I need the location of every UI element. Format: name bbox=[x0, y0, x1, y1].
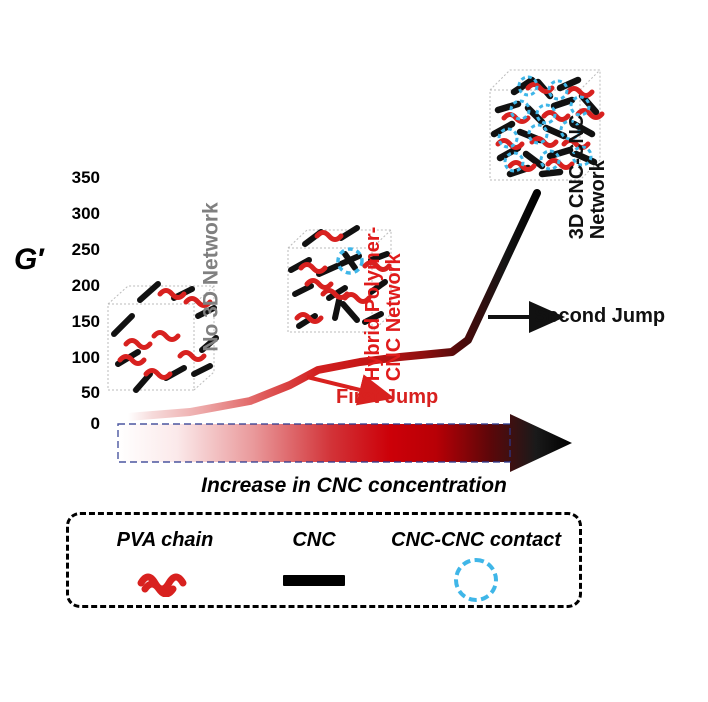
region-label-3d-cnc-cnc-network: 3D CNC-CNC Network bbox=[567, 115, 608, 239]
dashed-circle-icon bbox=[381, 560, 571, 600]
first-jump-label: First Jump bbox=[336, 386, 438, 409]
region-label-no-3d-network: No 3D Network bbox=[200, 202, 222, 351]
figure-canvas: G′ 350 300 250 200 150 100 50 0 bbox=[0, 0, 708, 702]
legend: PVA chain CNC CNC-CNC contact bbox=[66, 512, 582, 608]
second-jump-label: Second Jump bbox=[534, 305, 665, 328]
legend-item-cnc: CNC bbox=[249, 529, 379, 600]
legend-item-cnc-cnc-contact: CNC-CNC contact bbox=[381, 529, 571, 600]
concentration-arrow bbox=[110, 414, 580, 477]
region-label-hybrid-polymer-cnc-network: Hybrid Polymer- CNC Network bbox=[363, 227, 404, 381]
region-label-3d-line-2: Network bbox=[587, 115, 608, 239]
legend-item-pva-chain: PVA chain bbox=[85, 529, 245, 600]
x-axis-caption: Increase in CNC concentration bbox=[0, 474, 708, 498]
region-label-hybrid-line-2: CNC Network bbox=[383, 227, 404, 381]
legend-label-pva-chain: PVA chain bbox=[85, 529, 245, 552]
cnc-rod-icon bbox=[249, 560, 379, 600]
legend-label-cnc: CNC bbox=[249, 529, 379, 552]
legend-label-cnc-cnc-contact: CNC-CNC contact bbox=[381, 529, 571, 552]
pva-chain-icon bbox=[85, 560, 245, 600]
region-label-hybrid-line-1: Hybrid Polymer- bbox=[363, 227, 384, 381]
region-label-3d-line-1: 3D CNC-CNC bbox=[567, 115, 588, 239]
